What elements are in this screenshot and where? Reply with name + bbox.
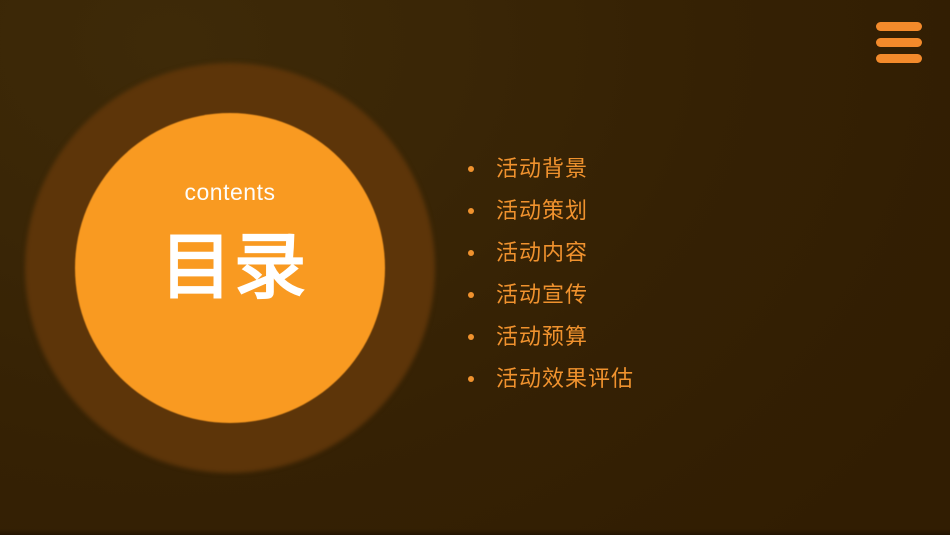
menu-bar-bottom	[876, 54, 922, 63]
bullet-dot-icon	[468, 334, 474, 340]
list-item[interactable]: 活动内容	[468, 232, 634, 274]
bullet-dot-icon	[468, 208, 474, 214]
list-item-label: 活动效果评估	[496, 368, 634, 390]
agenda-list: 活动背景 活动策划 活动内容 活动宣传 活动预算 活动效果评估	[468, 148, 634, 400]
bottom-edge-shading	[0, 529, 950, 535]
list-item-label: 活动策划	[496, 200, 588, 222]
list-item-label: 活动背景	[496, 158, 588, 180]
list-item[interactable]: 活动宣传	[468, 274, 634, 316]
bullet-dot-icon	[468, 292, 474, 298]
list-item-label: 活动预算	[496, 326, 588, 348]
list-item-label: 活动宣传	[496, 284, 588, 306]
hamburger-menu-icon[interactable]	[876, 22, 924, 63]
bullet-dot-icon	[468, 250, 474, 256]
menu-bar-middle	[876, 38, 922, 47]
list-item[interactable]: 活动策划	[468, 190, 634, 232]
slide-canvas: contents 目录 活动背景 活动策划 活动内容 活动宣传 活动预算 活动效…	[0, 0, 950, 535]
contents-subtitle: contents	[185, 181, 276, 204]
list-item[interactable]: 活动效果评估	[468, 358, 634, 400]
list-item-label: 活动内容	[496, 242, 588, 264]
contents-circle-text-group: contents 目录	[75, 113, 385, 423]
menu-bar-top	[876, 22, 922, 31]
bullet-dot-icon	[468, 166, 474, 172]
list-item[interactable]: 活动预算	[468, 316, 634, 358]
bullet-dot-icon	[468, 376, 474, 382]
contents-title: 目录	[160, 232, 308, 304]
list-item[interactable]: 活动背景	[468, 148, 634, 190]
